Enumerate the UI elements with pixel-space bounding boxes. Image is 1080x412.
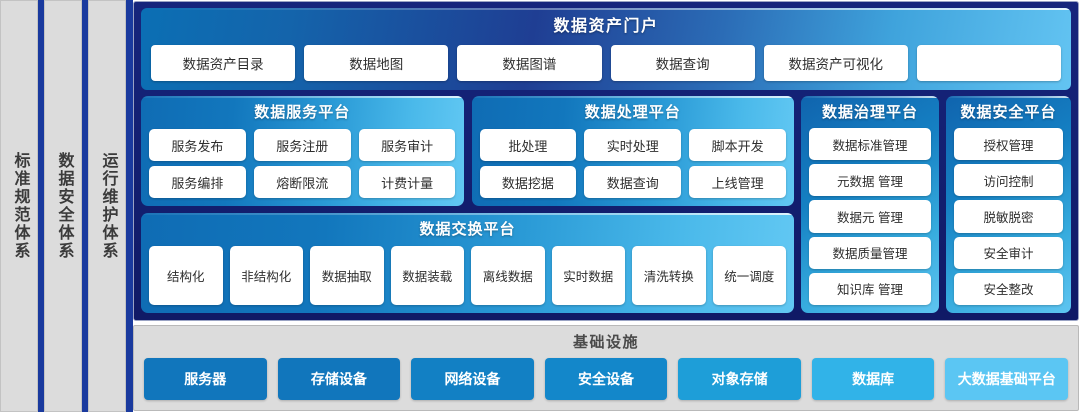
portal-title: 数据资产门户 [151,15,1061,39]
security-platform-title: 数据安全平台 [954,102,1063,124]
realtime-processing-item[interactable]: 实时处理 [584,129,681,161]
data-element-management-item[interactable]: 数据元 管理 [809,200,931,232]
processing-platform-panel: 数据处理平台 批处理 实时处理 脚本开发 数据挖据 数据查询 [472,96,795,206]
data-query-item[interactable]: 数据查询 [584,166,681,198]
sidebar-item-operations[interactable]: 运行维护体系 [88,0,126,412]
release-management-item[interactable]: 上线管理 [689,166,786,198]
infra-chip-network[interactable]: 网络设备 [411,358,534,400]
data-quality-management-item[interactable]: 数据质量管理 [809,237,931,269]
main-area: 数据资产门户 数据资产目录 数据地图 数据图谱 数据查询 数据资产可视化 [133,0,1080,412]
sidebar-item-data-security[interactable]: 数据安全体系 [44,0,82,412]
sidebar-item-label: 运行维护体系 [98,152,117,260]
exchange-platform-panel: 数据交换平台 结构化 非结构化 数据抽取 数据装载 离线数据 实时数据 清洗转换… [141,213,794,313]
cleansing-transform-item[interactable]: 清洗转换 [632,246,706,305]
platform-left-group: 数据服务平台 服务发布 服务注册 服务审计 服务编排 熔断限流 [141,96,794,313]
service-platform-row: 服务发布 服务注册 服务审计 [149,129,456,161]
portal-chip-data-asset-catalog[interactable]: 数据资产目录 [151,45,295,81]
data-load-item[interactable]: 数据装载 [391,246,465,305]
unified-scheduling-item[interactable]: 统一调度 [713,246,787,305]
portal-chip-data-graph[interactable]: 数据图谱 [457,45,601,81]
service-audit-item[interactable]: 服务审计 [359,129,456,161]
architecture-diagram: 标准规范体系 数据安全体系 运行维护体系 数据资产门户 数据资产目录 数据地图 … [0,0,1080,412]
knowledge-base-management-item[interactable]: 知识库 管理 [809,273,931,305]
security-rectification-item[interactable]: 安全整改 [954,273,1063,305]
data-mining-item[interactable]: 数据挖据 [480,166,577,198]
data-standard-management-item[interactable]: 数据标准管理 [809,128,931,160]
security-platform-panel: 数据安全平台 授权管理 访问控制 脱敏脱密 安全审计 安全整改 [946,96,1071,313]
batch-processing-item[interactable]: 批处理 [480,129,577,161]
exchange-platform-row: 结构化 非结构化 数据抽取 数据装载 离线数据 实时数据 清洗转换 统一调度 [149,246,786,305]
structured-item[interactable]: 结构化 [149,246,223,305]
data-extract-item[interactable]: 数据抽取 [310,246,384,305]
access-control-item[interactable]: 访问控制 [954,164,1063,196]
service-platform-panel: 数据服务平台 服务发布 服务注册 服务审计 服务编排 熔断限流 [141,96,464,206]
service-platform-items: 服务发布 服务注册 服务审计 服务编排 熔断限流 计费计量 [149,129,456,198]
processing-platform-row: 数据挖据 数据查询 上线管理 [480,166,787,198]
portal-chip-data-visualization[interactable]: 数据资产可视化 [764,45,908,81]
sidebar-item-label: 标准规范体系 [10,152,29,260]
realtime-data-item[interactable]: 实时数据 [552,246,626,305]
service-publish-item[interactable]: 服务发布 [149,129,246,161]
security-audit-item[interactable]: 安全审计 [954,237,1063,269]
infra-chip-storage[interactable]: 存储设备 [278,358,401,400]
portal-chip-list: 数据资产目录 数据地图 数据图谱 数据查询 数据资产可视化 [151,45,1061,81]
exchange-platform-title: 数据交换平台 [149,219,786,241]
infra-chip-server[interactable]: 服务器 [144,358,267,400]
service-billing-item[interactable]: 计费计量 [359,166,456,198]
data-masking-item[interactable]: 脱敏脱密 [954,200,1063,232]
portal-section: 数据资产门户 数据资产目录 数据地图 数据图谱 数据查询 数据资产可视化 [141,8,1071,90]
platform-row: 数据服务平台 服务发布 服务注册 服务审计 服务编排 熔断限流 [141,96,1071,313]
governance-platform-title: 数据治理平台 [809,102,931,124]
infrastructure-title: 基础设施 [144,332,1068,354]
governance-platform-panel: 数据治理平台 数据标准管理 元数据 管理 数据元 管理 数据质量管理 知识库 管… [801,96,939,313]
sidebar-item-standards[interactable]: 标准规范体系 [0,0,38,412]
portal-chip-data-map[interactable]: 数据地图 [304,45,448,81]
infrastructure-section: 基础设施 服务器 存储设备 网络设备 安全设备 对象存储 数据库 大数据基础平台 [133,325,1079,411]
service-circuit-breaker-item[interactable]: 熔断限流 [254,166,351,198]
infrastructure-chip-list: 服务器 存储设备 网络设备 安全设备 对象存储 数据库 大数据基础平台 [144,358,1068,400]
script-development-item[interactable]: 脚本开发 [689,129,786,161]
portal-chip-empty[interactable] [917,45,1061,81]
offline-data-item[interactable]: 离线数据 [471,246,545,305]
platform-frame: 数据资产门户 数据资产目录 数据地图 数据图谱 数据查询 数据资产可视化 [133,1,1079,321]
infra-chip-bigdata-platform[interactable]: 大数据基础平台 [945,358,1068,400]
service-register-item[interactable]: 服务注册 [254,129,351,161]
sidebar-item-label: 数据安全体系 [54,152,73,260]
platform-top-group: 数据服务平台 服务发布 服务注册 服务审计 服务编排 熔断限流 [141,96,794,206]
security-platform-items: 授权管理 访问控制 脱敏脱密 安全审计 安全整改 [954,128,1063,305]
service-platform-row: 服务编排 熔断限流 计费计量 [149,166,456,198]
governance-platform-items: 数据标准管理 元数据 管理 数据元 管理 数据质量管理 知识库 管理 [809,128,931,305]
processing-platform-items: 批处理 实时处理 脚本开发 数据挖据 数据查询 上线管理 [480,129,787,198]
authorization-management-item[interactable]: 授权管理 [954,128,1063,160]
exchange-platform-items: 结构化 非结构化 数据抽取 数据装载 离线数据 实时数据 清洗转换 统一调度 [149,246,786,305]
unstructured-item[interactable]: 非结构化 [230,246,304,305]
infra-chip-security[interactable]: 安全设备 [545,358,668,400]
processing-platform-row: 批处理 实时处理 脚本开发 [480,129,787,161]
infra-chip-database[interactable]: 数据库 [812,358,935,400]
sidebar: 标准规范体系 数据安全体系 运行维护体系 [0,0,133,412]
infra-chip-object-storage[interactable]: 对象存储 [678,358,801,400]
metadata-management-item[interactable]: 元数据 管理 [809,164,931,196]
service-orchestration-item[interactable]: 服务编排 [149,166,246,198]
processing-platform-title: 数据处理平台 [480,102,787,124]
service-platform-title: 数据服务平台 [149,102,456,124]
portal-chip-data-query[interactable]: 数据查询 [611,45,755,81]
